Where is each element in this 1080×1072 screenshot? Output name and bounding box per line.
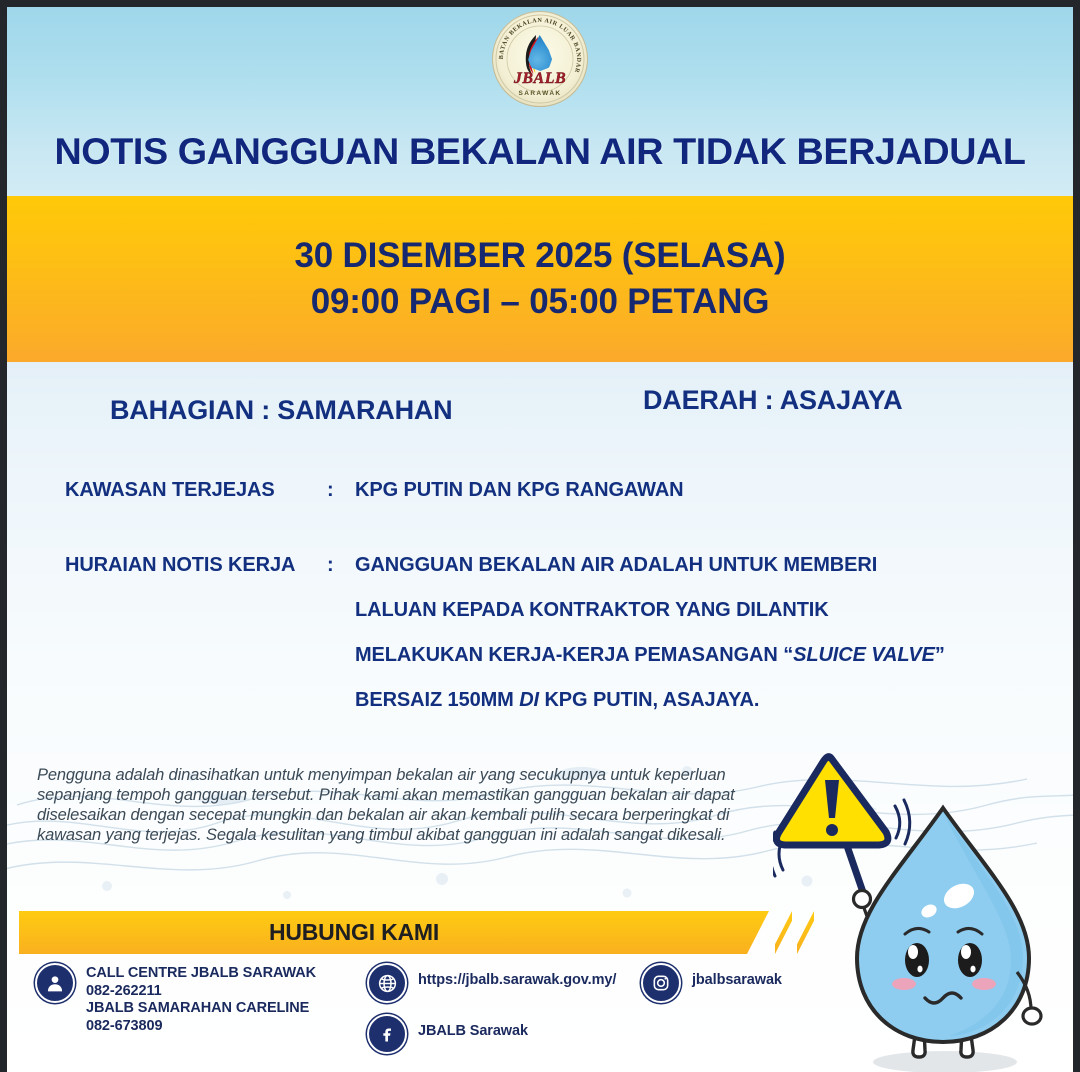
contact-column-instagram: jbalbsarawak [641, 963, 782, 1014]
facebook-icon [367, 1014, 407, 1054]
affected-area-colon: : [327, 479, 334, 502]
website-url[interactable]: https://jbalb.sarawak.gov.my/ [418, 963, 616, 990]
logo-state-label: SARAWAK [492, 90, 588, 97]
work-description-line-2: LALUAN KEPADA KONTRAKTOR YANG DILANTIK [355, 599, 945, 622]
person-icon [35, 963, 75, 1003]
facebook-item[interactable]: JBALB Sarawak [367, 1014, 616, 1054]
band-slash-1 [775, 911, 792, 954]
line3-prefix: MELAKUKAN KERJA-KERJA PEMASANGAN “ [355, 644, 793, 666]
affected-area-row: KAWASAN TERJEJAS : KPG PUTIN DAN KPG RAN… [65, 479, 275, 502]
outage-time: 09:00 PAGI – 05:00 PETANG [311, 282, 770, 322]
advisory-note: Pengguna adalah dinasihatkan untuk menyi… [37, 765, 772, 845]
call-centre-item[interactable]: CALL CENTRE JBALB SARAWAK 082-262211 JBA… [35, 963, 316, 1035]
call-centre-phone[interactable]: 082-262211 [86, 983, 316, 1001]
location-row: BAHAGIAN : SAMARAHAN DAERAH : ASAJAYA [7, 395, 1073, 437]
affected-area-label: KAWASAN TERJEJAS [65, 479, 275, 501]
line4-prefix: BERSAIZ 150MM [355, 689, 519, 711]
contact-section: HUBUNGI KAMI CALL CENTRE JBALB SARAWAK 0… [7, 901, 1073, 1062]
division-label: BAHAGIAN : SAMARAHAN [110, 395, 452, 426]
contact-column-phone: CALL CENTRE JBALB SARAWAK 082-262211 JBA… [35, 963, 316, 1046]
poster-header: JABATAN BEKALAN AIR LUAR BANDAR JBALB SA… [7, 7, 1073, 196]
work-description-colon: : [327, 554, 334, 577]
band-slash-2 [797, 911, 814, 954]
page-title: NOTIS GANGGUAN BEKALAN AIR TIDAK BERJADU… [7, 131, 1073, 173]
instagram-icon [641, 963, 681, 1003]
line3-italic: SLUICE VALVE [793, 644, 935, 666]
work-description-row: HURAIAN NOTIS KERJA : GANGGUAN BEKALAN A… [65, 554, 295, 577]
logo-wordmark: JBALB [492, 70, 588, 88]
work-description-lines: GANGGUAN BEKALAN AIR ADALAH UNTUK MEMBER… [355, 554, 945, 734]
work-description-line-4: BERSAIZ 150MM DI KPG PUTIN, ASAJAYA. [355, 689, 945, 712]
facebook-handle[interactable]: JBALB Sarawak [418, 1014, 528, 1041]
contact-band: HUBUNGI KAMI [19, 911, 769, 954]
careline-name: JBALB SAMARAHAN CARELINE [86, 1000, 316, 1018]
notice-poster: JABATAN BEKALAN AIR LUAR BANDAR JBALB SA… [0, 0, 1080, 1072]
affected-area-value: KPG PUTIN DAN KPG RANGAWAN [355, 479, 684, 502]
instagram-item[interactable]: jbalbsarawak [641, 963, 782, 1003]
call-centre-text: CALL CENTRE JBALB SARAWAK 082-262211 JBA… [86, 963, 316, 1035]
line4-suffix: KPG PUTIN, ASAJAYA. [539, 689, 759, 711]
poster-body: BAHAGIAN : SAMARAHAN DAERAH : ASAJAYA KA… [7, 362, 1073, 901]
line4-italic: DI [519, 689, 539, 711]
jbalb-logo: JABATAN BEKALAN AIR LUAR BANDAR JBALB SA… [492, 11, 588, 107]
careline-phone[interactable]: 082-673809 [86, 1018, 316, 1036]
work-description-line-1: GANGGUAN BEKALAN AIR ADALAH UNTUK MEMBER… [355, 554, 945, 577]
call-centre-name: CALL CENTRE JBALB SARAWAK [86, 965, 316, 983]
website-item[interactable]: https://jbalb.sarawak.gov.my/ [367, 963, 616, 1003]
instagram-handle[interactable]: jbalbsarawak [692, 963, 782, 990]
outage-date: 30 DISEMBER 2025 (SELASA) [295, 236, 786, 276]
contact-band-title: HUBUNGI KAMI [269, 919, 439, 946]
contact-column-web: https://jbalb.sarawak.gov.my/ JBALB Sara… [367, 963, 616, 1062]
work-description-line-3: MELAKUKAN KERJA-KERJA PEMASANGAN “SLUICE… [355, 644, 945, 667]
district-label: DAERAH : ASAJAYA [643, 385, 902, 416]
work-description-label: HURAIAN NOTIS KERJA [65, 554, 295, 576]
date-banner: 30 DISEMBER 2025 (SELASA) 09:00 PAGI – 0… [7, 196, 1073, 362]
line3-suffix: ” [935, 644, 945, 666]
globe-icon [367, 963, 407, 1003]
